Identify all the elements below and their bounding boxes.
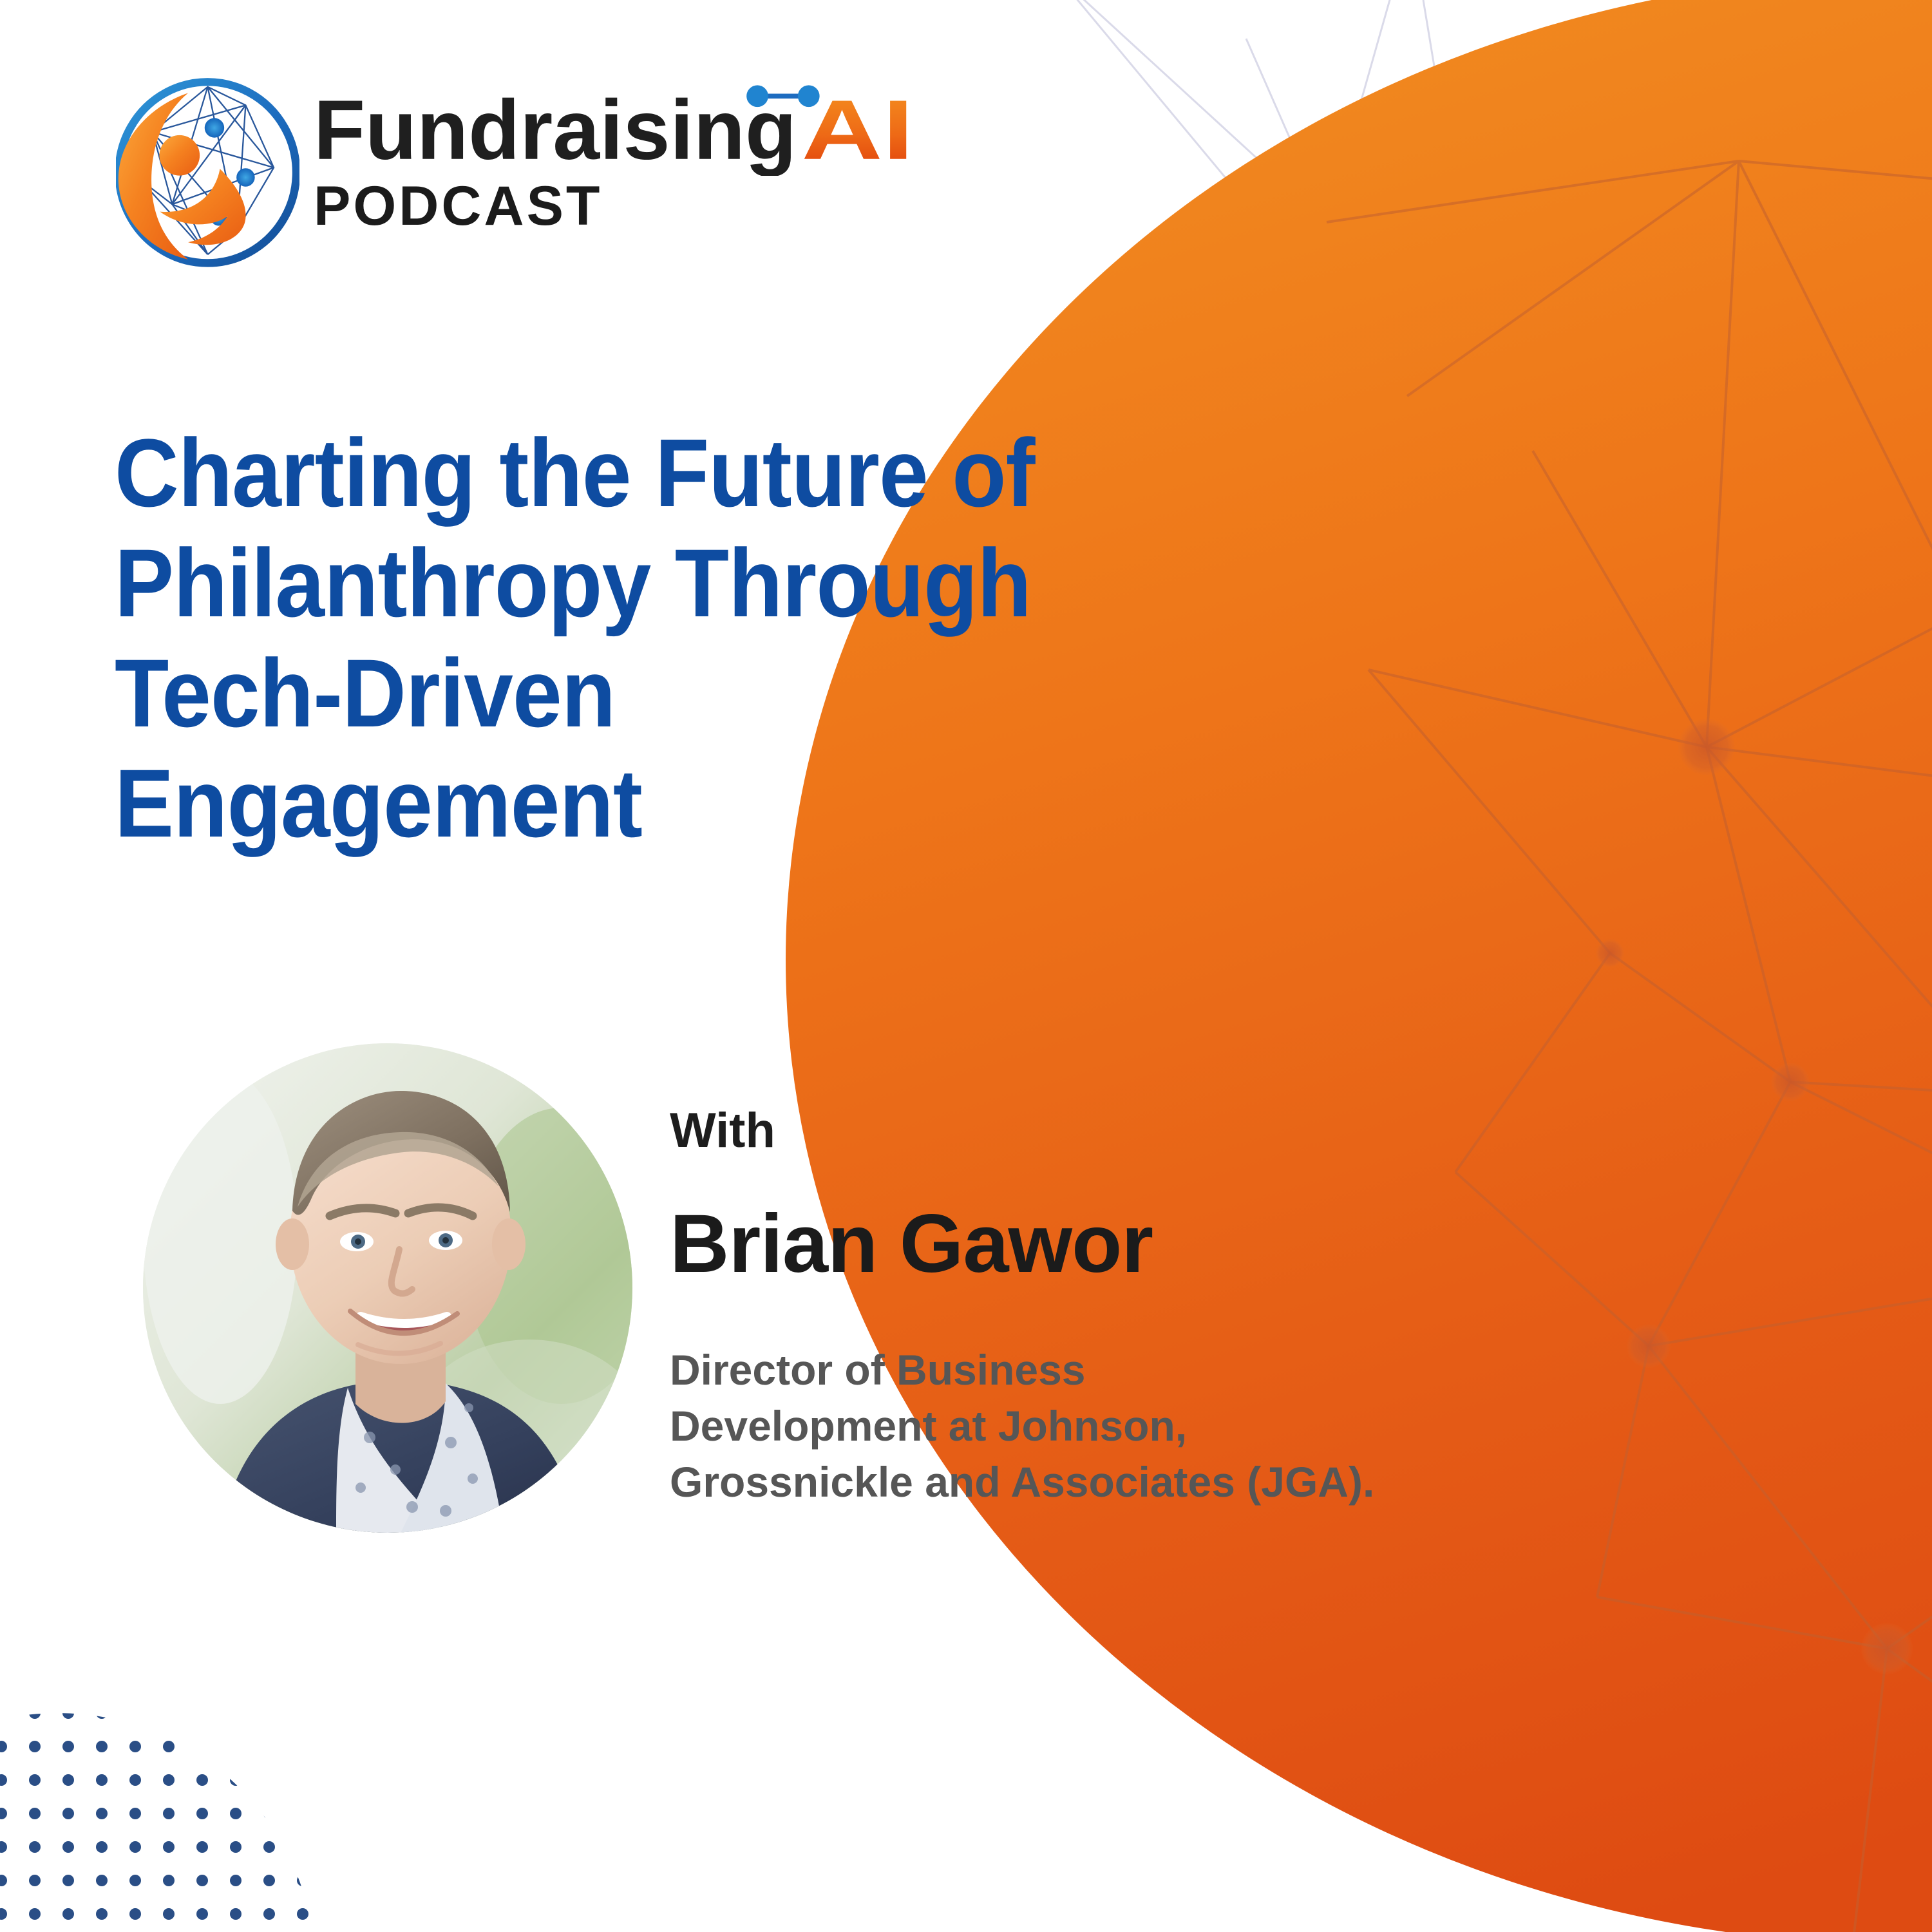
network-lines-on-orange — [1327, 161, 1932, 1932]
guest-headshot-avatar — [143, 1043, 632, 1533]
title-line-3: Tech-Driven — [115, 638, 1335, 748]
wordmark-primary: Fundraising — [314, 82, 797, 176]
role-line-2: Development at Johnson, — [670, 1398, 1462, 1454]
avatar-image — [143, 1043, 632, 1533]
podcast-cover: Fundraising AI PODCAST Charting the Futu… — [0, 0, 1932, 1932]
dot-grid-decoration — [0, 1707, 308, 1920]
episode-title: Charting the Future of Philanthropy Thro… — [115, 418, 1335, 858]
orange-ellipse — [786, 0, 1932, 1932]
title-line-2: Philanthropy Through — [115, 528, 1335, 638]
brand-subtitle: PODCAST — [314, 178, 918, 234]
guest-info: With Brian Gawor Director of Business De… — [670, 1106, 1481, 1510]
wordmark-accent: AI — [802, 82, 914, 176]
background-decoration — [0, 0, 1932, 1932]
brand-wordmark: Fundraising AI — [314, 79, 918, 176]
title-line-1: Charting the Future of — [115, 418, 1335, 528]
guest-with-label: With — [670, 1106, 1481, 1155]
brand-logo[interactable]: Fundraising AI PODCAST — [116, 74, 918, 267]
role-line-1: Director of Business — [670, 1342, 1462, 1398]
guest-name: Brian Gawor — [670, 1203, 1481, 1285]
guest-role: Director of Business Development at John… — [670, 1342, 1462, 1510]
title-line-4: Engagement — [115, 748, 1335, 858]
role-line-3: Grossnickle and Associates (JGA). — [670, 1454, 1462, 1510]
globe-network-person-icon — [116, 74, 299, 267]
network-nodes-on-orange — [1596, 595, 1932, 1674]
